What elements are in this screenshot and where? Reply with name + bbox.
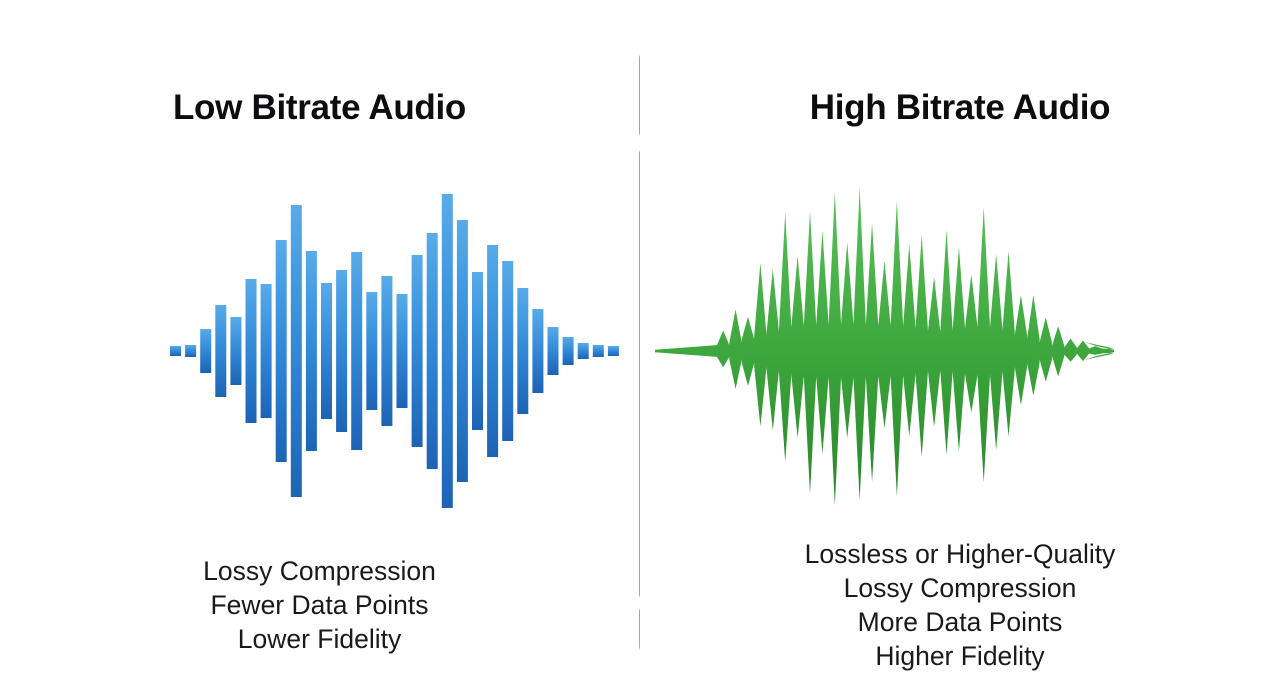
waveform-path [655, 188, 1114, 506]
waveform-bar [261, 284, 272, 418]
waveform-bar [336, 270, 347, 432]
waveform-bar [502, 261, 513, 441]
waveform-bar [306, 251, 317, 451]
waveform-bar [351, 252, 362, 450]
waveform-bar [291, 205, 302, 497]
caption-line: Lossless or Higher-Quality [640, 537, 1280, 571]
waveform-bar [381, 276, 392, 426]
waveform-bar [200, 329, 211, 373]
page-title-low-bitrate: Low Bitrate Audio [0, 88, 639, 128]
waveform-bar [517, 288, 528, 414]
waveform-bar [276, 240, 287, 462]
waveform-bar [593, 345, 604, 357]
caption-line: Lossy Compression [640, 571, 1280, 605]
waveform-high-bitrate [640, 175, 1280, 520]
caption-line: Lower Fidelity [0, 622, 639, 656]
waveform-bar [185, 345, 196, 357]
waveform-bar [472, 272, 483, 430]
waveform-high-bitrate-svg [640, 175, 1280, 520]
infographic-canvas: Low Bitrate Audio Lossy Compression Fewe… [0, 0, 1280, 698]
waveform-bar [246, 279, 257, 423]
waveform-low-bitrate-svg [0, 175, 639, 520]
waveform-bar [608, 346, 619, 356]
caption-line: Higher Fidelity [640, 639, 1280, 673]
waveform-bar [397, 294, 408, 408]
waveform-bar [487, 245, 498, 457]
caption-high-bitrate: Lossless or Higher-Quality Lossy Compres… [640, 537, 1280, 673]
waveform-bar [366, 292, 377, 410]
caption-line: Lossy Compression [0, 554, 639, 588]
caption-line: Fewer Data Points [0, 588, 639, 622]
waveform-bar [215, 305, 226, 397]
waveform-bar [532, 309, 543, 393]
waveform-bar [230, 317, 241, 385]
waveform-bar [412, 255, 423, 447]
waveform-bar [321, 283, 332, 419]
waveform-bar [457, 220, 468, 482]
waveform-bar [548, 327, 559, 375]
waveform-bar [442, 194, 453, 508]
waveform-bar [170, 346, 181, 356]
waveform-bar [563, 337, 574, 365]
waveform-bar [578, 343, 589, 359]
panel-high-bitrate: High Bitrate Audio Lossless or Higher-Qu… [640, 0, 1280, 698]
caption-low-bitrate: Lossy Compression Fewer Data Points Lowe… [0, 554, 639, 656]
waveform-bar [427, 233, 438, 469]
caption-line: More Data Points [640, 605, 1280, 639]
waveform-low-bitrate [0, 175, 639, 520]
page-title-high-bitrate: High Bitrate Audio [640, 88, 1280, 128]
panel-low-bitrate: Low Bitrate Audio Lossy Compression Fewe… [0, 0, 639, 698]
